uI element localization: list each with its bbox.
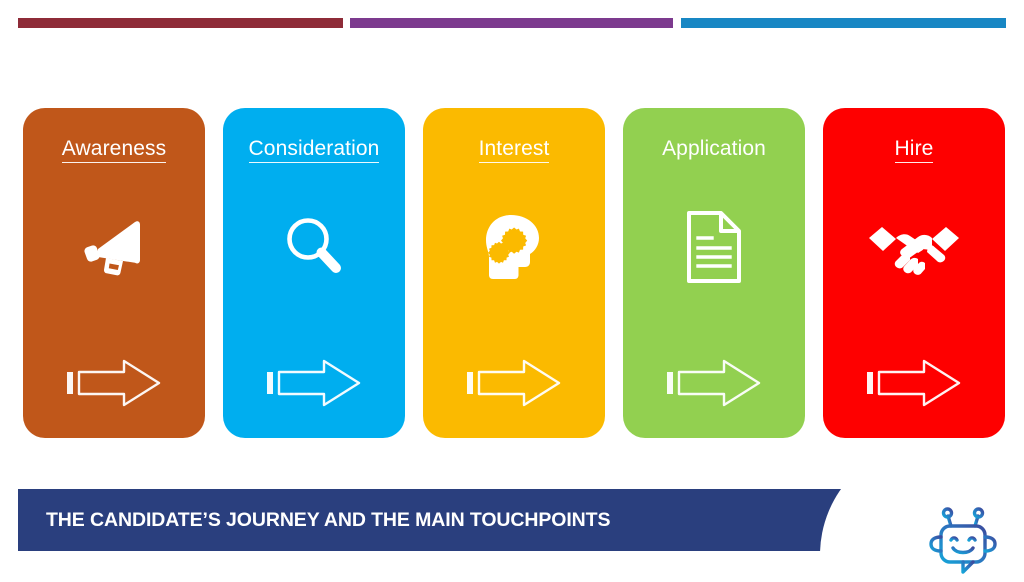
megaphone-icon [23,204,205,290]
stage-title-application: Application [623,138,805,163]
magnifier-icon [223,204,405,290]
stage-title-interest: Interest [423,138,605,163]
top-rule-segment-purple [350,18,673,28]
stage-title-awareness: Awareness [23,138,205,163]
stage-title-hire: Hire [823,138,1005,163]
top-rule [0,18,1024,28]
stage-card-application[interactable]: Application [623,108,805,438]
stage-card-interest[interactable]: Interest [423,108,605,438]
chatbot-robot-icon[interactable] [918,499,1010,577]
stage-arrow-interest [423,353,605,413]
stage-card-hire[interactable]: Hire [823,108,1005,438]
stage-arrow-consideration [223,353,405,413]
candidate-journey-stages: Awareness Consideration [23,108,1001,438]
stage-title-consideration: Consideration [223,138,405,163]
footer-banner-title: THE CANDIDATE’S JOURNEY AND THE MAIN TOU… [46,489,610,551]
footer-banner: THE CANDIDATE’S JOURNEY AND THE MAIN TOU… [18,489,1006,551]
document-icon [623,204,805,290]
top-rule-segment-blue [681,18,1006,28]
head-with-gears-icon [423,204,605,290]
stage-arrow-application [623,353,805,413]
stage-card-awareness[interactable]: Awareness [23,108,205,438]
stage-arrow-awareness [23,353,205,413]
top-rule-segment-dark-red [18,18,343,28]
stage-card-consideration[interactable]: Consideration [223,108,405,438]
handshake-icon [823,204,1005,290]
stage-arrow-hire [823,353,1005,413]
